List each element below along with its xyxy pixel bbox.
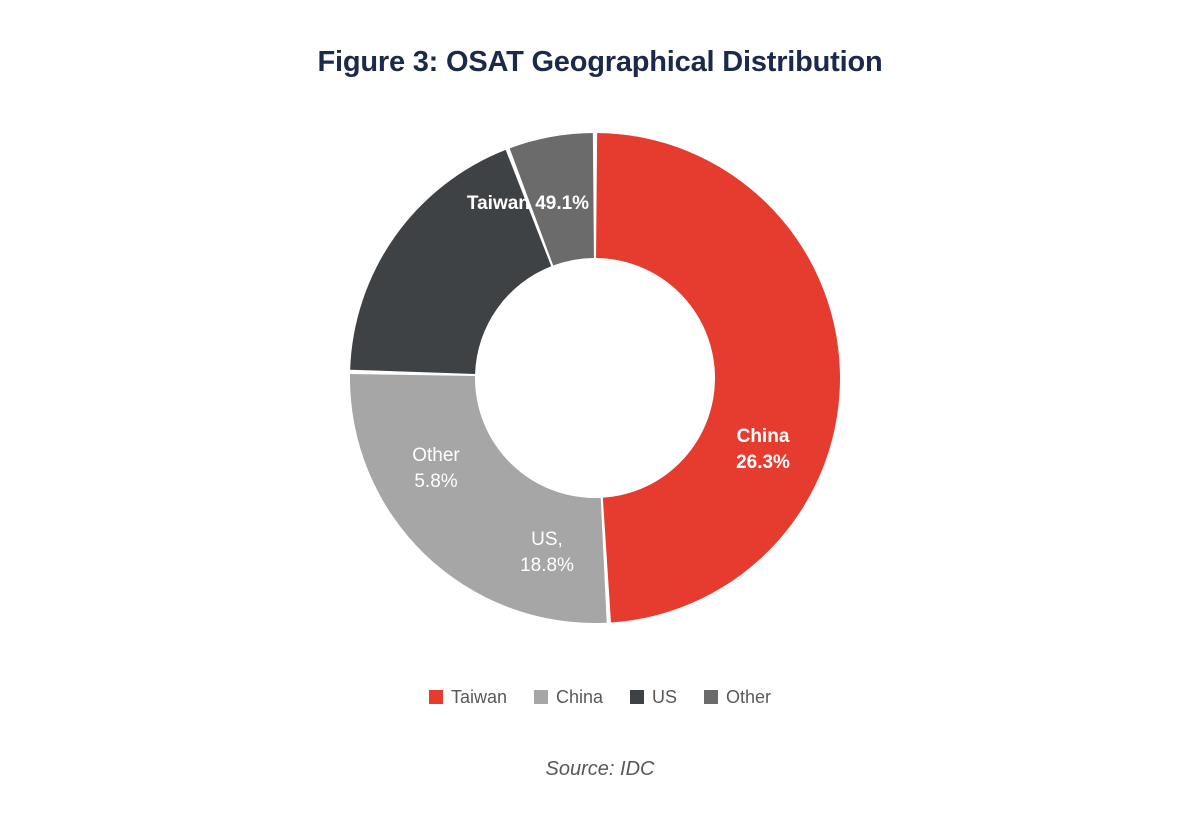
donut-slice-us[interactable]	[350, 150, 551, 374]
slice-label-taiwan: Taiwan 49.1%	[467, 193, 589, 214]
figure-container: Figure 3: OSAT Geographical Distribution…	[0, 0, 1200, 831]
legend-swatch-icon	[630, 690, 644, 704]
legend-label: US	[652, 688, 677, 706]
donut-slice-china[interactable]	[350, 374, 607, 623]
legend-item-china[interactable]: China	[534, 688, 603, 706]
donut-slice-taiwan[interactable]	[596, 133, 840, 622]
donut-chart: Taiwan 49.1%China26.3%US,18.8%Other5.8%	[0, 0, 1200, 700]
legend-label: China	[556, 688, 603, 706]
legend-item-other[interactable]: Other	[704, 688, 771, 706]
legend-item-us[interactable]: US	[630, 688, 677, 706]
legend-swatch-icon	[534, 690, 548, 704]
donut-slices	[350, 133, 840, 623]
legend-label: Other	[726, 688, 771, 706]
legend-item-taiwan[interactable]: Taiwan	[429, 688, 507, 706]
legend-swatch-icon	[704, 690, 718, 704]
legend-swatch-icon	[429, 690, 443, 704]
donut-chart-svg: Taiwan 49.1%China26.3%US,18.8%Other5.8%	[0, 0, 1200, 700]
legend-label: Taiwan	[451, 688, 507, 706]
chart-legend: TaiwanChinaUSOther	[0, 688, 1200, 706]
source-note: Source: IDC	[0, 758, 1200, 781]
